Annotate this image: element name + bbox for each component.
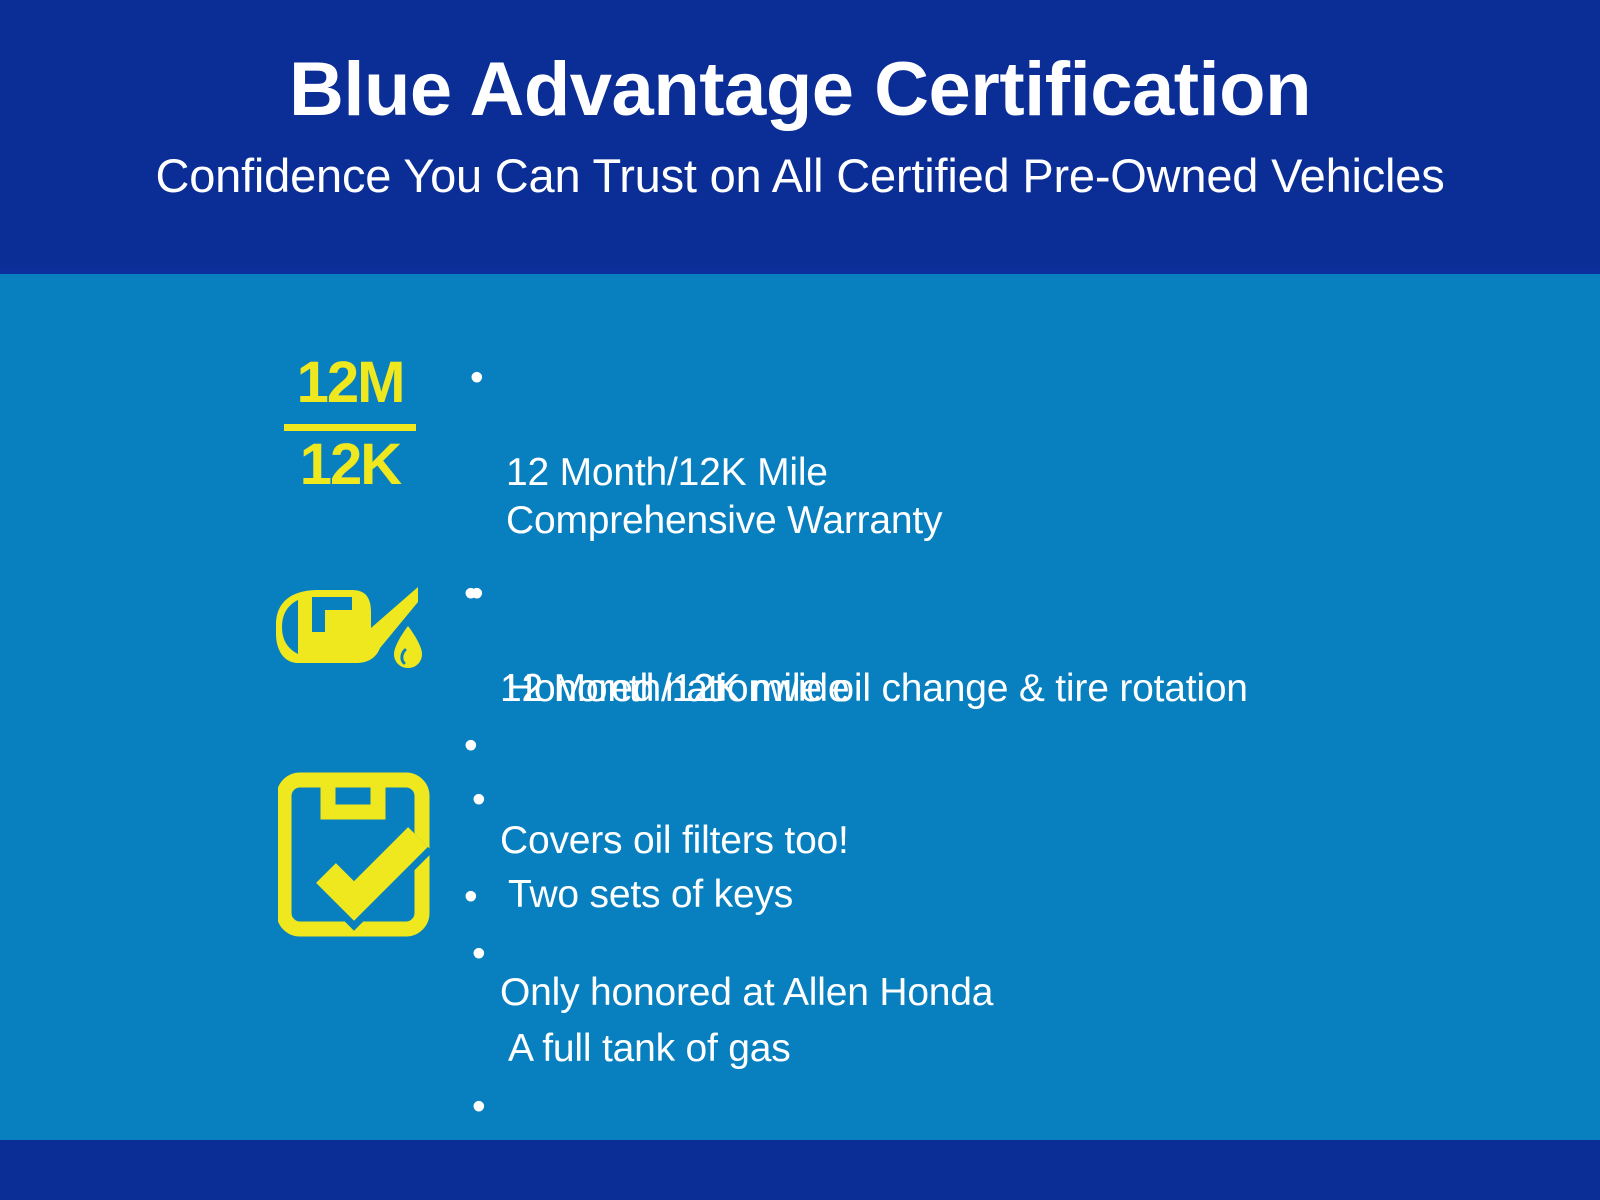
blue-advantage-certification-poster: Blue Advantage Certification Confidence … (0, 0, 1600, 1200)
bullet-icon: • (472, 930, 502, 978)
footer-band (0, 1140, 1600, 1200)
list-item: • 12 Month/12K Mile Comprehensive Warran… (464, 354, 1380, 544)
bullet-icon: • (464, 570, 494, 618)
list-item-label: A full tank of gas (508, 1027, 791, 1070)
list-item: • Two sets of keys (466, 776, 1398, 919)
list-item: • A full tank of gas (466, 930, 1398, 1073)
page-subtitle: Confidence You Can Trust on All Certifie… (0, 150, 1600, 202)
bullet-icon: • (470, 354, 500, 402)
page-title: Blue Advantage Certification (0, 52, 1600, 128)
benefit-icon-wrapper-extras (278, 772, 428, 937)
benefit-icon-wrapper-maintenance (268, 570, 428, 680)
header-band (0, 0, 1600, 268)
twelve-month-twelve-k-fraction-icon: 12M 12K (280, 350, 420, 498)
bullet-icon: • (464, 722, 494, 770)
benefit-row-extras: • Two sets of keys • A full tank of gas … (278, 772, 1398, 1200)
bullet-icon: • (472, 1083, 502, 1131)
fraction-numerator-label: 12M (280, 354, 420, 412)
oil-can-icon (268, 570, 428, 680)
list-item-label: 12 Month/12K Mile Comprehensive Warranty (506, 451, 942, 542)
list-item-label: Two sets of keys (508, 873, 793, 916)
list-item: • 12 Month/12K mile oil change & tire ro… (458, 570, 1388, 713)
benefit-icon-wrapper-warranty: 12M 12K (280, 350, 430, 498)
list-item-label: 12 Month/12K mile oil change & tire rota… (500, 667, 1248, 710)
bullet-icon: • (472, 776, 502, 824)
fraction-divider-bar (284, 424, 416, 431)
benefit-list-extras: • Two sets of keys • A full tank of gas … (466, 776, 1398, 1200)
fraction-denominator-label: 12K (280, 436, 420, 494)
clipboard-check-icon (278, 772, 438, 937)
